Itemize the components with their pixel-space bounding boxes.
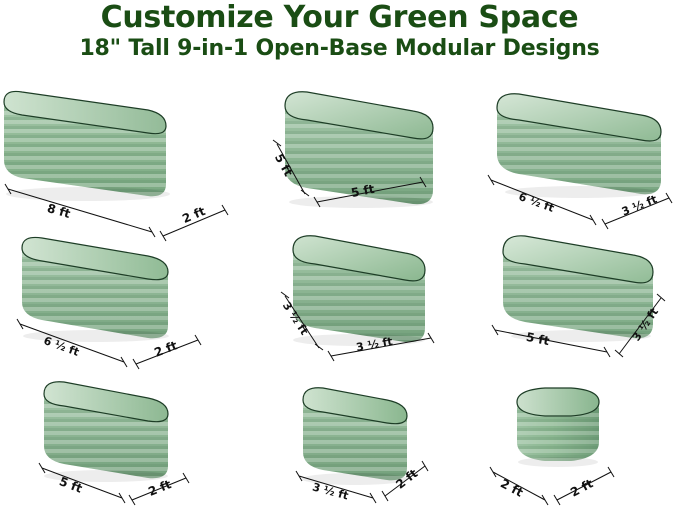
bed-grid: 8 ft 2 ft <box>0 84 679 510</box>
bed-3-5ft-x-3-5ft-illustration <box>243 226 465 368</box>
bed-cell-1[interactable]: 5 ft 5 ft <box>243 84 465 226</box>
bed-6-5ft-x-2ft-illustration <box>0 226 243 368</box>
bed-3-5ft-x-2ft-illustration <box>243 368 465 510</box>
bed-row-2: 6 ½ ft 2 ft <box>0 226 679 368</box>
bed-cell-4[interactable]: 3 ½ ft 3 ½ ft <box>243 226 465 368</box>
bed-5ft-x-2ft-illustration <box>0 368 243 510</box>
header: Customize Your Green Space 18" Tall 9-in… <box>0 0 679 61</box>
bed-5ft-x-3-5ft-illustration <box>465 226 679 368</box>
bed-cell-0[interactable]: 8 ft 2 ft <box>0 84 243 226</box>
bed-cell-8[interactable]: 2 ft 2 ft <box>465 368 679 510</box>
bed-cell-6[interactable]: 5 ft 2 ft <box>0 368 243 510</box>
bed-cell-5[interactable]: 5 ft 3 ½ ft <box>465 226 679 368</box>
bed-8ft-x-2ft-illustration <box>0 84 243 226</box>
bed-cell-7[interactable]: 3 ½ ft 2 ft <box>243 368 465 510</box>
page-subtitle: 18" Tall 9-in-1 Open-Base Modular Design… <box>0 37 679 61</box>
bed-row-3: 5 ft 2 ft <box>0 368 679 510</box>
bed-cell-3[interactable]: 6 ½ ft 2 ft <box>0 226 243 368</box>
bed-row-1: 8 ft 2 ft <box>0 84 679 226</box>
bed-cell-2[interactable]: 6 ½ ft 3 ½ ft <box>465 84 679 226</box>
page-title: Customize Your Green Space <box>0 2 679 34</box>
